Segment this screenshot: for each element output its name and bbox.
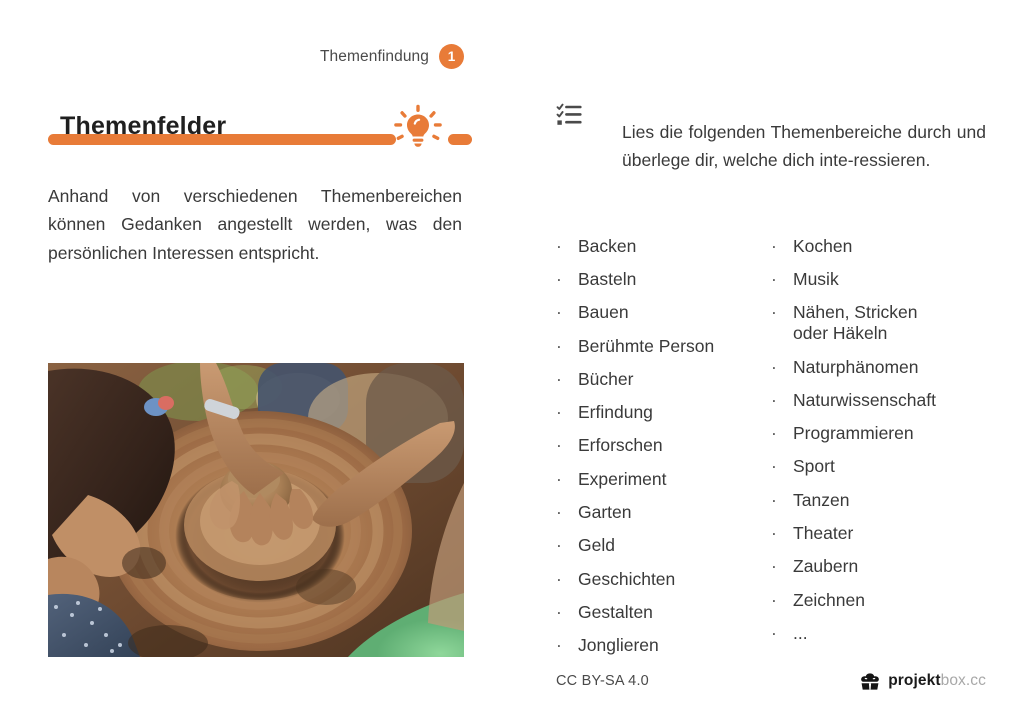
list-item[interactable]: ·... [771,623,986,644]
list-bullet: · [556,502,578,523]
list-item-label: Sport [793,456,986,477]
list-item[interactable]: ·Geschichten [556,569,771,590]
brand-text: projektbox.cc [888,672,986,690]
list-item-label: Geld [578,535,771,556]
checklist-icon [556,102,582,128]
list-item[interactable]: ·Theater [771,523,986,544]
list-bullet: · [556,402,578,423]
list-item-label: Experiment [578,469,771,490]
brand-name-light: box.cc [941,672,986,689]
list-item[interactable]: ·Gestalten [556,602,771,623]
list-item-label: Jonglieren [578,635,771,656]
list-item-label: Berühmte Person [578,336,771,357]
list-bullet: · [771,556,793,577]
list-item-label: Kochen [793,236,986,257]
list-bullet: · [556,635,578,656]
footer: CC BY-SA 4.0 projektbox.cc [556,672,986,690]
list-item[interactable]: ·Tanzen [771,490,986,511]
brand-name-strong: projekt [888,672,940,689]
topics-column-right: ·Kochen·Musik·Nähen, Stricken oder Häkel… [771,236,986,669]
list-item[interactable]: ·Erforschen [556,435,771,456]
brand-logo[interactable]: projektbox.cc [860,672,986,690]
pottery-wheel-photo [48,363,464,657]
topics-lists: ·Backen·Basteln·Bauen·Berühmte Person·Bü… [556,236,986,669]
title-row: Themenfelder [48,104,464,156]
instruction-text: Lies die folgenden Themenbereiche durch … [622,118,986,175]
list-item-label: Bauen [578,302,771,323]
topbar: Themenfindung 1 [0,44,464,69]
list-item[interactable]: ·Backen [556,236,771,257]
list-item[interactable]: ·Programmieren [771,423,986,444]
list-bullet: · [771,623,793,644]
list-item[interactable]: ·Nähen, Stricken oder Häkeln [771,302,986,344]
section-label: Themenfindung [320,48,429,66]
list-item-label: Programmieren [793,423,986,444]
list-bullet: · [771,269,793,290]
list-bullet: · [556,602,578,623]
list-item[interactable]: ·Geld [556,535,771,556]
list-bullet: · [556,336,578,357]
list-item-label: Erforschen [578,435,771,456]
list-item[interactable]: ·Zeichnen [771,590,986,611]
list-item-label: Naturwissenschaft [793,390,986,411]
list-bullet: · [771,357,793,378]
list-bullet: · [556,569,578,590]
list-item-label: Gestalten [578,602,771,623]
list-bullet: · [771,590,793,611]
list-item-label: Zaubern [793,556,986,577]
list-item-label: Zeichnen [793,590,986,611]
topics-column-left: ·Backen·Basteln·Bauen·Berühmte Person·Bü… [556,236,771,669]
list-bullet: · [771,490,793,511]
list-item[interactable]: ·Zaubern [771,556,986,577]
list-item-label: Tanzen [793,490,986,511]
title-underline-tail [448,134,472,145]
list-bullet: · [771,236,793,257]
list-item[interactable]: ·Kochen [771,236,986,257]
list-bullet: · [771,523,793,544]
list-item[interactable]: ·Sport [771,456,986,477]
list-item[interactable]: ·Naturwissenschaft [771,390,986,411]
list-item[interactable]: ·Jonglieren [556,635,771,656]
list-item[interactable]: ·Erfindung [556,402,771,423]
step-badge: 1 [439,44,464,69]
list-bullet: · [771,456,793,477]
list-item[interactable]: ·Garten [556,502,771,523]
list-bullet: · [556,535,578,556]
left-column: Themenfelder [48,104,464,285]
list-item[interactable]: ·Experiment [556,469,771,490]
list-item-label: Theater [793,523,986,544]
list-bullet: · [556,302,578,323]
list-bullet: · [556,469,578,490]
list-bullet: · [771,302,793,323]
list-item-label: Basteln [578,269,771,290]
list-item-label: Erfindung [578,402,771,423]
list-bullet: · [771,423,793,444]
list-item[interactable]: ·Musik [771,269,986,290]
list-bullet: · [771,390,793,411]
list-bullet: · [556,435,578,456]
list-item[interactable]: ·Basteln [556,269,771,290]
page-title: Themenfelder [60,112,226,141]
list-item-label: Backen [578,236,771,257]
list-item[interactable]: ·Naturphänomen [771,357,986,378]
instruction-block: Lies die folgenden Themenbereiche durch … [556,100,986,192]
list-item-label: Nähen, Stricken oder Häkeln [793,302,986,344]
list-item-label: Garten [578,502,771,523]
list-item[interactable]: ·Berühmte Person [556,336,771,357]
license-text: CC BY-SA 4.0 [556,673,649,689]
lightbulb-icon [392,104,444,152]
list-item-label: Bücher [578,369,771,390]
right-column: Lies die folgenden Themenbereiche durch … [556,100,986,669]
projektbox-logo-icon [860,673,880,690]
list-item-label: Geschichten [578,569,771,590]
list-item-label: ... [793,623,986,644]
list-item[interactable]: ·Bauen [556,302,771,323]
intro-paragraph: Anhand von verschiedenen Themenbereichen… [48,182,462,267]
list-bullet: · [556,236,578,257]
worksheet-page: Themenfindung 1 Themenfelder [0,0,1024,722]
list-bullet: · [556,269,578,290]
list-item-label: Naturphänomen [793,357,986,378]
list-item-label: Musik [793,269,986,290]
list-item[interactable]: ·Bücher [556,369,771,390]
list-bullet: · [556,369,578,390]
